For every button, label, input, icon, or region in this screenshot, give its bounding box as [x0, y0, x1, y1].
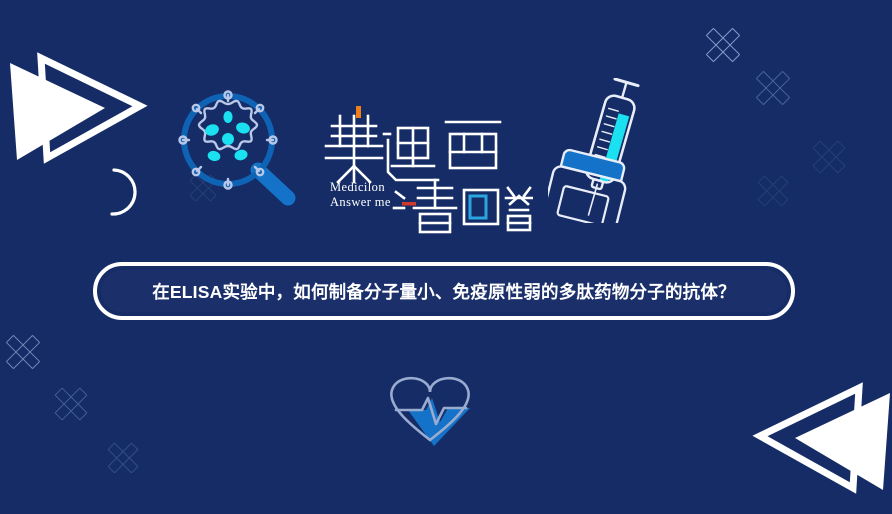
glyph-da	[506, 188, 532, 230]
logo-accent-red-bar	[402, 202, 416, 206]
logo-accent-orange	[356, 106, 361, 118]
vial-label	[557, 186, 609, 223]
triangle-pair-bottom-right	[755, 368, 892, 493]
x-mark-right-faint	[828, 143, 864, 179]
arc-ring-decoration	[92, 164, 148, 225]
x-mark-bottom-left-2	[70, 390, 106, 426]
triangle-filled-left	[795, 393, 890, 490]
logo-english-text: Medicilon Answer me	[330, 180, 391, 210]
syringe-vial-icon	[548, 78, 668, 223]
syringe-plunger	[622, 82, 626, 97]
triangle-outline-right	[41, 58, 140, 158]
question-banner-inner: 在ELISA实验中，如何制备分子量小、免疫原性弱的多肽药物分子的抗体？	[101, 270, 787, 312]
triangle-filled-right	[10, 63, 105, 160]
question-text: 在ELISA实验中，如何制备分子量小、免疫原性弱的多肽药物分子的抗体？	[152, 279, 736, 304]
pulse-wedge	[408, 398, 470, 446]
x-mark-top-right-bright	[722, 30, 760, 68]
campaign-poster: Medicilon Answer me 在ELISA实验中，如何制备分子量小、免…	[0, 0, 892, 514]
triangle-pair-top-left	[5, 38, 145, 163]
question-banner: 在ELISA实验中，如何制备分子量小、免疫原性弱的多肽药物分子的抗体？	[93, 262, 795, 320]
logo-english-brand: Medicilon	[330, 180, 391, 195]
logo-english-tagline: Answer me	[330, 195, 391, 210]
glyph-di	[384, 128, 438, 180]
x-mark-mid-right-faint	[772, 178, 806, 212]
magnifier-virus-icon	[176, 88, 298, 210]
glyph-qing	[394, 180, 456, 232]
x-mark-bottom-left-1	[22, 337, 60, 375]
x-mark-top-right-dim	[772, 73, 810, 111]
glyph-mei	[326, 116, 382, 182]
medicilon-answer-me-logo: Medicilon Answer me	[318, 104, 533, 234]
x-mark-bottom-left-3	[122, 445, 156, 479]
heart-pulse-icon	[378, 370, 482, 448]
glyph-xi	[446, 122, 500, 168]
virus-core-dots	[204, 111, 252, 162]
logo-accent-cyan-box	[470, 196, 486, 218]
triangle-outline-left	[760, 388, 859, 488]
